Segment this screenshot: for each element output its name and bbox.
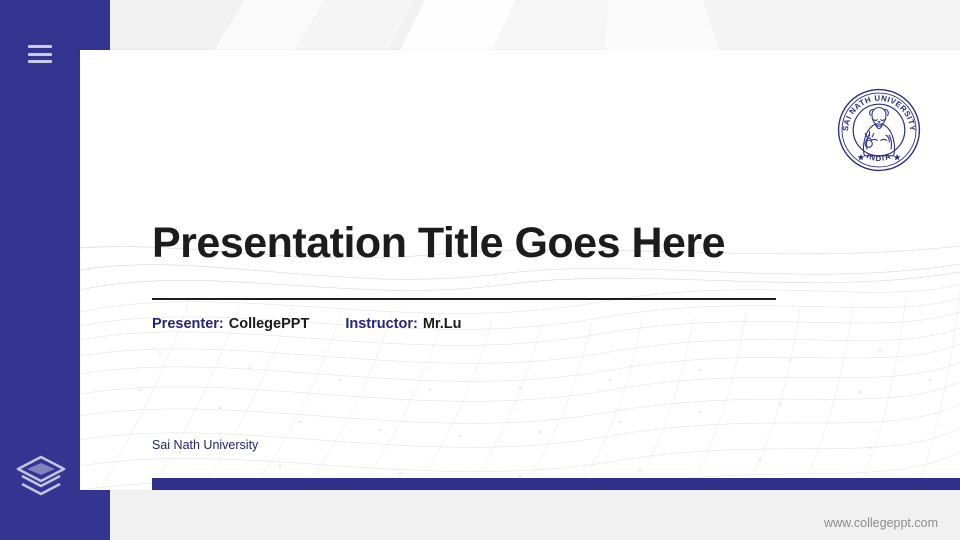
title-divider [152, 298, 776, 300]
slide-footer-text: Sai Nath University [152, 438, 258, 452]
layers-stack-icon[interactable] [14, 452, 68, 502]
instructor-credit: Instructor: Mr.Lu [345, 316, 461, 332]
presenter-credit: Presenter: CollegePPT [152, 316, 309, 332]
hamburger-menu-icon[interactable] [28, 45, 52, 63]
page-title: Presentation Title Goes Here [152, 220, 792, 266]
presentation-slide: SAI NATH UNIVERSITY INDIA [80, 50, 960, 490]
sai-nath-university-seal: SAI NATH UNIVERSITY INDIA [836, 87, 922, 173]
site-watermark: www.collegeppt.com [824, 516, 938, 530]
presenter-value: CollegePPT [229, 316, 310, 332]
instructor-value: Mr.Lu [423, 316, 462, 332]
hamburger-bar [28, 53, 52, 56]
hamburger-bar [28, 45, 52, 48]
title-block: Presentation Title Goes Here Presenter: … [152, 220, 792, 332]
instructor-label: Instructor: [345, 316, 418, 332]
presenter-label: Presenter: [152, 316, 224, 332]
hamburger-bar [28, 60, 52, 63]
credits-row: Presenter: CollegePPT Instructor: Mr.Lu [152, 316, 792, 332]
slide-footer-accent-bar [152, 478, 960, 490]
